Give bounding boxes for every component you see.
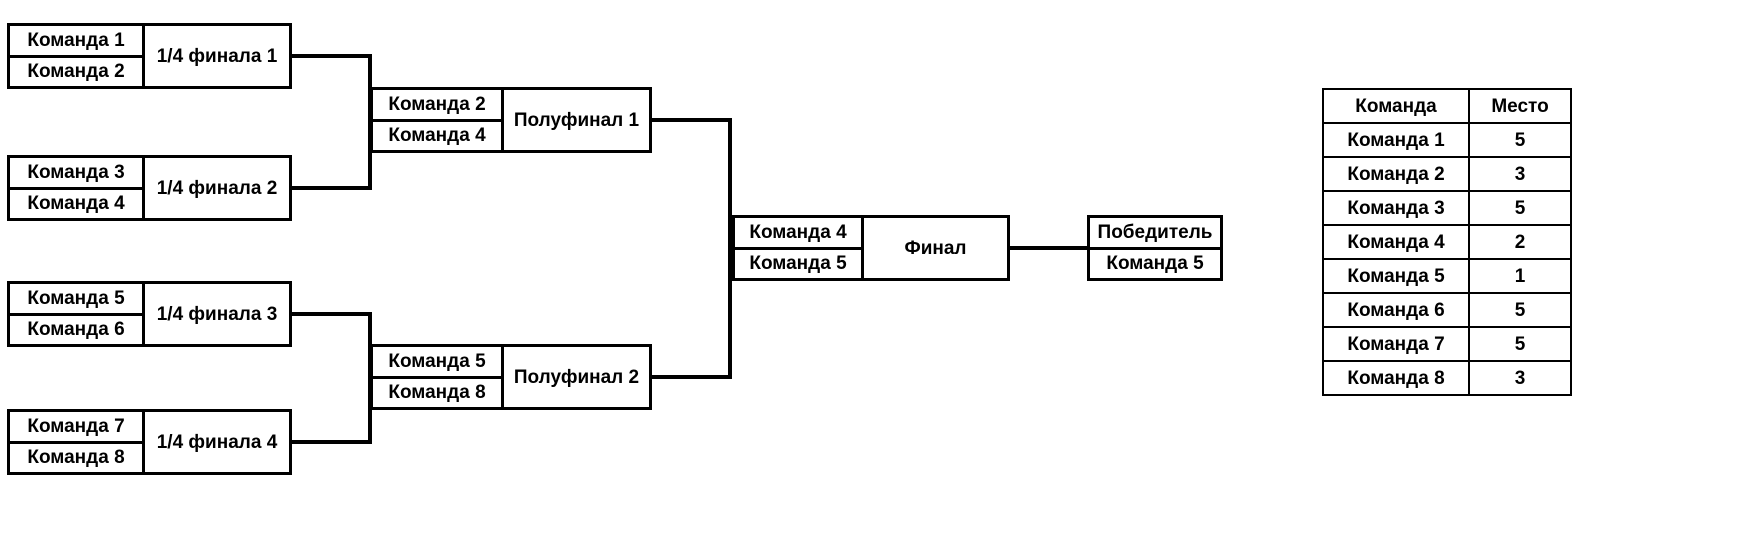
final-label: Финал bbox=[864, 218, 1007, 278]
quarterfinal-4-slots: Команда 7 Команда 8 bbox=[10, 412, 145, 472]
winner-label: Победитель bbox=[1090, 218, 1220, 247]
quarterfinal-1-slots: Команда 1 Команда 2 bbox=[10, 26, 145, 86]
results-table-header-row: Команда Место bbox=[1323, 89, 1571, 123]
winner-box[interactable]: Победитель Команда 5 bbox=[1087, 215, 1223, 281]
semifinal-2-label: Полуфинал 2 bbox=[504, 347, 649, 407]
quarterfinal-2-bottom-team: Команда 4 bbox=[10, 187, 142, 219]
table-row: Команда 8 3 bbox=[1323, 361, 1571, 395]
quarterfinal-3-slots: Команда 5 Команда 6 bbox=[10, 284, 145, 344]
semifinal-1-slots: Команда 2 Команда 4 bbox=[373, 90, 504, 150]
results-row-team: Команда 4 bbox=[1323, 225, 1469, 259]
semifinal-1-top-team: Команда 2 bbox=[373, 90, 501, 119]
connector-quarterfinal-3-out bbox=[292, 312, 372, 316]
results-row-team: Команда 5 bbox=[1323, 259, 1469, 293]
quarterfinal-4-top-team: Команда 7 bbox=[10, 412, 142, 441]
quarterfinal-4-label: 1/4 финала 4 bbox=[145, 412, 289, 472]
connector-quarterfinal-4-out bbox=[292, 440, 372, 444]
table-row: Команда 1 5 bbox=[1323, 123, 1571, 157]
table-row: Команда 4 2 bbox=[1323, 225, 1571, 259]
match-semifinal-1[interactable]: Команда 2 Команда 4 Полуфинал 1 bbox=[370, 87, 652, 153]
quarterfinal-3-top-team: Команда 5 bbox=[10, 284, 142, 313]
table-row: Команда 7 5 bbox=[1323, 327, 1571, 361]
match-quarterfinal-1[interactable]: Команда 1 Команда 2 1/4 финала 1 bbox=[7, 23, 292, 89]
results-row-place: 3 bbox=[1469, 361, 1571, 395]
results-row-team: Команда 2 bbox=[1323, 157, 1469, 191]
match-quarterfinal-4[interactable]: Команда 7 Команда 8 1/4 финала 4 bbox=[7, 409, 292, 475]
results-header-place: Место bbox=[1469, 89, 1571, 123]
table-row: Команда 5 1 bbox=[1323, 259, 1571, 293]
results-row-place: 5 bbox=[1469, 123, 1571, 157]
quarterfinal-2-label: 1/4 финала 2 bbox=[145, 158, 289, 218]
results-header-team: Команда bbox=[1323, 89, 1469, 123]
match-final[interactable]: Команда 4 Команда 5 Финал bbox=[732, 215, 1010, 281]
results-row-team: Команда 3 bbox=[1323, 191, 1469, 225]
results-row-team: Команда 1 bbox=[1323, 123, 1469, 157]
final-top-team: Команда 4 bbox=[735, 218, 861, 247]
connector-quarterfinal-1-out bbox=[292, 54, 372, 58]
quarterfinal-2-top-team: Команда 3 bbox=[10, 158, 142, 187]
final-bottom-team: Команда 5 bbox=[735, 247, 861, 279]
results-row-place: 1 bbox=[1469, 259, 1571, 293]
connector-final-to-winner bbox=[1010, 246, 1088, 250]
quarterfinal-2-slots: Команда 3 Команда 4 bbox=[10, 158, 145, 218]
quarterfinal-3-label: 1/4 финала 3 bbox=[145, 284, 289, 344]
results-row-team: Команда 7 bbox=[1323, 327, 1469, 361]
quarterfinal-1-label: 1/4 финала 1 bbox=[145, 26, 289, 86]
results-table: Команда Место Команда 1 5 Команда 2 3 Ко… bbox=[1322, 88, 1572, 396]
results-row-team: Команда 8 bbox=[1323, 361, 1469, 395]
results-row-place: 3 bbox=[1469, 157, 1571, 191]
semifinal-1-bottom-team: Команда 4 bbox=[373, 119, 501, 151]
final-slots: Команда 4 Команда 5 bbox=[735, 218, 864, 278]
table-row: Команда 6 5 bbox=[1323, 293, 1571, 327]
results-row-place: 5 bbox=[1469, 191, 1571, 225]
semifinal-2-bottom-team: Команда 8 bbox=[373, 376, 501, 408]
table-row: Команда 3 5 bbox=[1323, 191, 1571, 225]
results-row-place: 5 bbox=[1469, 293, 1571, 327]
match-quarterfinal-2[interactable]: Команда 3 Команда 4 1/4 финала 2 bbox=[7, 155, 292, 221]
semifinal-1-label: Полуфинал 1 bbox=[504, 90, 649, 150]
tournament-bracket-diagram: Команда 1 Команда 2 1/4 финала 1 Команда… bbox=[0, 0, 1758, 555]
connector-semifinal-2-out bbox=[652, 375, 732, 379]
quarterfinal-3-bottom-team: Команда 6 bbox=[10, 313, 142, 345]
results-row-place: 2 bbox=[1469, 225, 1571, 259]
quarterfinal-4-bottom-team: Команда 8 bbox=[10, 441, 142, 473]
connector-semifinal-1-out bbox=[652, 118, 732, 122]
semifinal-2-slots: Команда 5 Команда 8 bbox=[373, 347, 504, 407]
winner-team: Команда 5 bbox=[1090, 247, 1220, 279]
quarterfinal-1-top-team: Команда 1 bbox=[10, 26, 142, 55]
table-row: Команда 2 3 bbox=[1323, 157, 1571, 191]
quarterfinal-1-bottom-team: Команда 2 bbox=[10, 55, 142, 87]
semifinal-2-top-team: Команда 5 bbox=[373, 347, 501, 376]
match-quarterfinal-3[interactable]: Команда 5 Команда 6 1/4 финала 3 bbox=[7, 281, 292, 347]
match-semifinal-2[interactable]: Команда 5 Команда 8 Полуфинал 2 bbox=[370, 344, 652, 410]
connector-quarterfinal-2-out bbox=[292, 186, 372, 190]
results-row-place: 5 bbox=[1469, 327, 1571, 361]
results-row-team: Команда 6 bbox=[1323, 293, 1469, 327]
